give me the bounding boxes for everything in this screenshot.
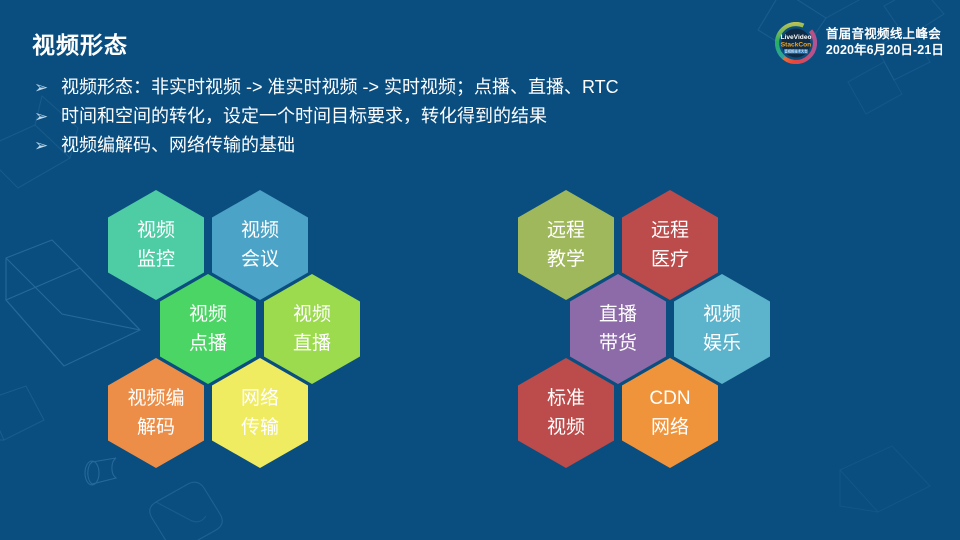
hex-label-line: 会议 <box>241 245 279 274</box>
page-title: 视频形态 <box>32 26 128 60</box>
hex-label-line: 远程 <box>547 216 585 245</box>
hex-label-line: 标准 <box>547 384 585 413</box>
livevideostackcon-logo-icon: LiveVideo StackCon 音视频技术大会 <box>775 22 817 64</box>
hex-label-line: 医疗 <box>651 245 689 274</box>
hex-label-line: 直播 <box>293 329 331 358</box>
hex-label-line: CDN <box>649 384 690 413</box>
hex-label-line: 直播 <box>599 300 637 329</box>
video-scenario-cluster: 远程教学远程医疗直播带货视频娱乐标准视频CDN网络 <box>518 190 788 470</box>
hex-video-on-demand: 视频点播 <box>160 274 256 384</box>
hex-label-line: 网络 <box>241 384 279 413</box>
svg-text:音视频技术大会: 音视频技术大会 <box>784 49 808 54</box>
hex-label-line: 视频 <box>189 300 227 329</box>
event-dates: 2020年6月20日-21日 <box>826 43 944 59</box>
bullet-arrow-icon: ➢ <box>34 103 61 130</box>
hex-label-line: 视频编 <box>127 384 184 413</box>
hex-label-line: 传输 <box>241 413 279 442</box>
svg-text:LiveVideo: LiveVideo <box>780 34 811 41</box>
hex-label-line: 点播 <box>189 329 227 358</box>
bullet-list: ➢ 视频形态：非实时视频 -> 准实时视频 -> 实时视频；点播、直播、RTC … <box>34 74 824 161</box>
bullet-item: ➢ 视频形态：非实时视频 -> 准实时视频 -> 实时视频；点播、直播、RTC <box>34 74 824 101</box>
bullet-text: 视频编解码、网络传输的基础 <box>61 132 824 159</box>
hex-label-line: 远程 <box>651 216 689 245</box>
hex-live-commerce: 直播带货 <box>570 274 666 384</box>
hex-label-line: 视频 <box>293 300 331 329</box>
hex-cdn-network: CDN网络 <box>622 358 718 468</box>
event-title: 首届音视频线上峰会 <box>826 27 944 43</box>
hex-video-conference: 视频会议 <box>212 190 308 300</box>
event-logo: LiveVideo StackCon 音视频技术大会 首届音视频线上峰会 202… <box>775 22 944 64</box>
event-logo-text: 首届音视频线上峰会 2020年6月20日-21日 <box>826 27 944 58</box>
hex-standard-video: 标准视频 <box>518 358 614 468</box>
hex-video-surveillance: 视频监控 <box>108 190 204 300</box>
bullet-item: ➢ 视频编解码、网络传输的基础 <box>34 132 824 159</box>
bullet-arrow-icon: ➢ <box>34 132 61 159</box>
hex-label-line: 视频 <box>241 216 279 245</box>
hex-label-line: 视频 <box>137 216 175 245</box>
bullet-item: ➢ 时间和空间的转化，设定一个时间目标要求，转化得到的结果 <box>34 103 824 130</box>
hex-label-line: 解码 <box>137 413 175 442</box>
hex-video-codec: 视频编解码 <box>108 358 204 468</box>
bullet-arrow-icon: ➢ <box>34 74 61 101</box>
hex-video-live: 视频直播 <box>264 274 360 384</box>
bullet-text: 视频形态：非实时视频 -> 准实时视频 -> 实时视频；点播、直播、RTC <box>61 74 824 101</box>
hex-remote-healthcare: 远程医疗 <box>622 190 718 300</box>
hex-label-line: 视频 <box>547 413 585 442</box>
hex-video-entertainment: 视频娱乐 <box>674 274 770 384</box>
hex-label-line: 视频 <box>703 300 741 329</box>
bullet-text: 时间和空间的转化，设定一个时间目标要求，转化得到的结果 <box>61 103 824 130</box>
hex-label-line: 带货 <box>599 329 637 358</box>
hex-label-line: 网络 <box>651 413 689 442</box>
video-form-cluster: 视频监控视频会议视频点播视频直播视频编解码网络传输 <box>108 190 368 470</box>
hex-network-transport: 网络传输 <box>212 358 308 468</box>
hex-label-line: 娱乐 <box>703 329 741 358</box>
hex-remote-education: 远程教学 <box>518 190 614 300</box>
hex-label-line: 监控 <box>137 245 175 274</box>
slide-root: 视频形态 L <box>0 0 960 540</box>
svg-text:StackCon: StackCon <box>781 41 811 48</box>
hex-label-line: 教学 <box>547 245 585 274</box>
